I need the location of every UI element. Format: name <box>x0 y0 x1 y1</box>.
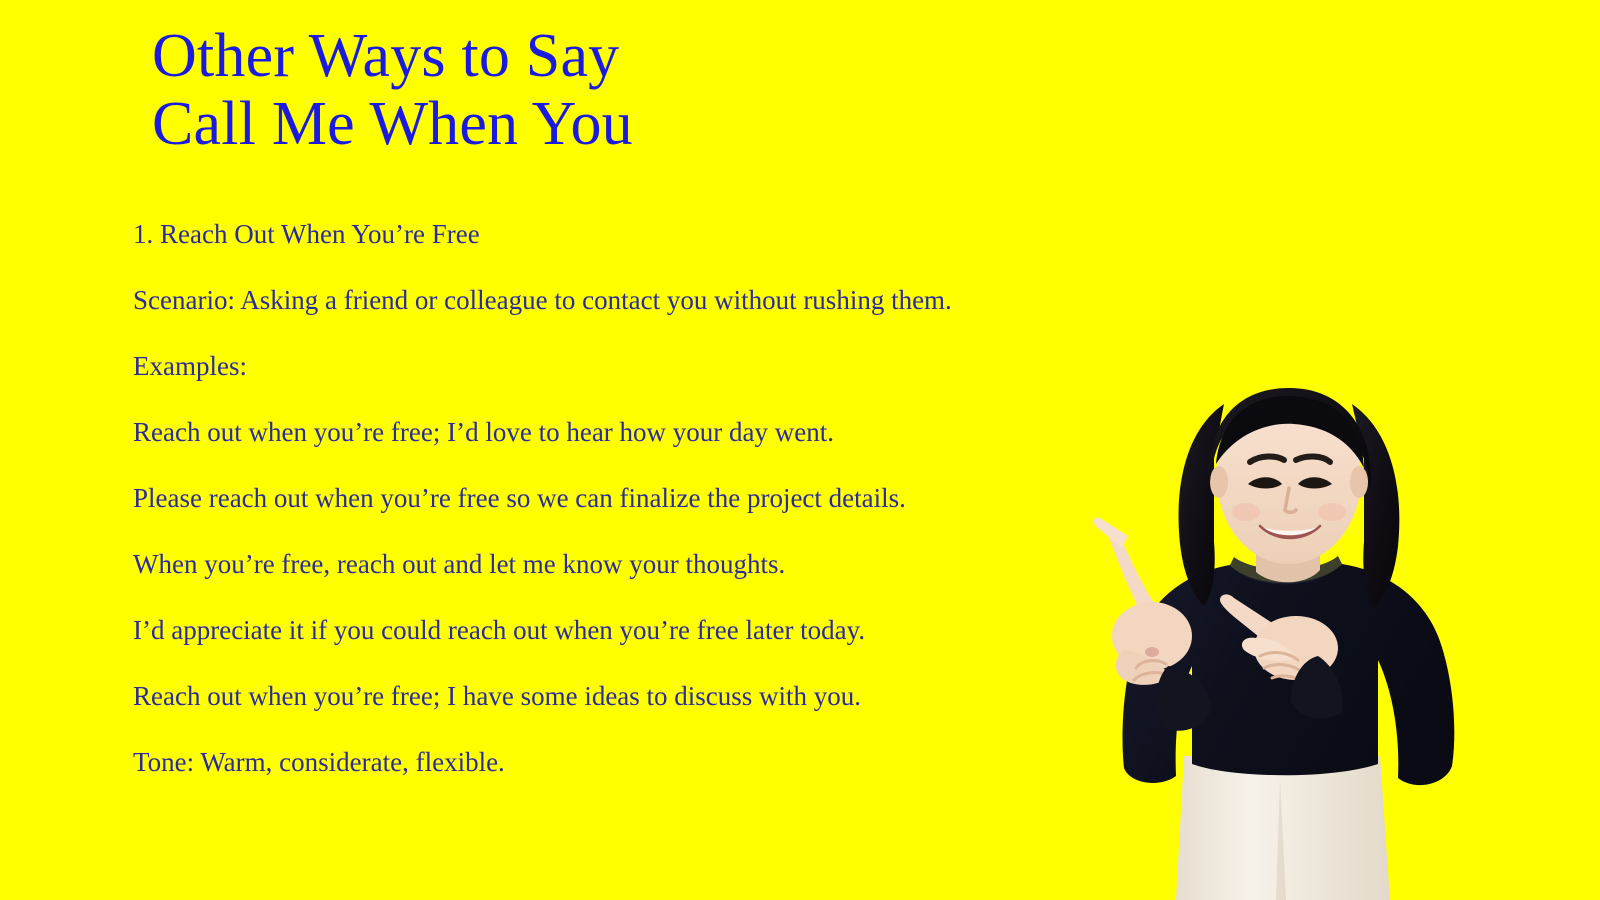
title-line-2: Call Me When You <box>152 90 1052 158</box>
example-item: When you’re free, reach out and let me k… <box>133 548 1063 581</box>
example-item: I’d appreciate it if you could reach out… <box>133 614 1063 647</box>
presenter-figure-icon <box>1080 360 1500 900</box>
slide-title: Other Ways to Say Call Me When You <box>152 22 1052 158</box>
example-item: Reach out when you’re free; I have some … <box>133 680 1063 713</box>
scenario-text: Scenario: Asking a friend or colleague t… <box>133 284 1038 317</box>
example-item: Please reach out when you’re free so we … <box>133 482 1063 515</box>
section-heading: 1. Reach Out When You’re Free <box>133 218 1063 251</box>
slide-body: 1. Reach Out When You’re Free Scenario: … <box>133 218 1063 779</box>
trousers-shape <box>1176 756 1390 900</box>
examples-label: Examples: <box>133 350 1063 383</box>
slide-canvas: Other Ways to Say Call Me When You 1. Re… <box>0 0 1600 900</box>
example-item: Reach out when you’re free; I’d love to … <box>133 416 1063 449</box>
presenter-photo <box>1080 360 1500 900</box>
title-line-1: Other Ways to Say <box>152 22 1052 90</box>
tone-text: Tone: Warm, considerate, flexible. <box>133 746 1063 779</box>
